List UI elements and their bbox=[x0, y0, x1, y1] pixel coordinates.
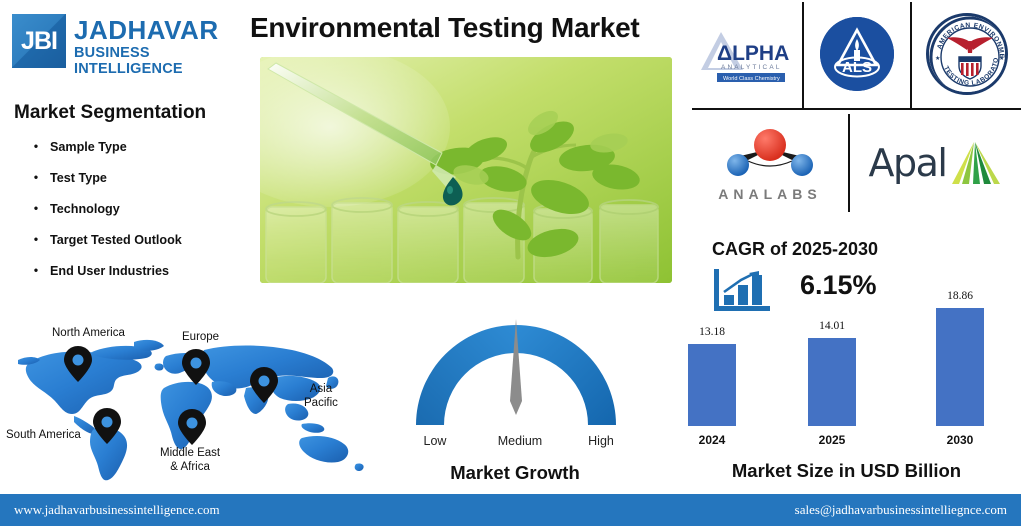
gauge-tick-labels: Low Medium High bbox=[395, 434, 635, 452]
bar-category-label: 2025 bbox=[819, 433, 846, 447]
bar-category-label: 2024 bbox=[699, 433, 726, 447]
map-label-south-america: South America bbox=[6, 428, 81, 442]
brand-subtitle: BUSINESS INTELLIGENCE bbox=[74, 45, 236, 77]
lab-plant-illustration bbox=[260, 57, 672, 283]
regional-world-map: North America Europe Asia Pacific South … bbox=[6, 330, 374, 486]
segmentation-list: • Sample Type • Test Type • Technology •… bbox=[22, 140, 252, 295]
list-item: • Test Type bbox=[22, 171, 252, 202]
market-growth-gauge bbox=[402, 305, 630, 430]
jbi-logo-mark: JBI bbox=[12, 14, 66, 68]
bar-rect bbox=[936, 308, 984, 426]
bar-value: 14.01 bbox=[819, 320, 845, 332]
svg-text:ALS: ALS bbox=[842, 59, 872, 76]
als-logo-icon: ALS bbox=[820, 17, 894, 91]
apal-logo: Apal bbox=[869, 140, 1003, 186]
footer-email-link[interactable]: sales@jadhavarbusinessintelliegnce.com bbox=[795, 502, 1007, 518]
bullet-icon: • bbox=[22, 233, 50, 246]
logo-american-environmental-testing-laboratory: AMERICAN ENVIRONMENTAL TESTING LABORATOR… bbox=[912, 0, 1021, 108]
map-label-asia-pacific: Asia Pacific bbox=[304, 382, 338, 411]
bullet-icon: • bbox=[22, 140, 50, 153]
svg-text:World Class Chemistry: World Class Chemistry bbox=[723, 76, 780, 82]
logo-analabs: ANALABS bbox=[692, 112, 848, 213]
list-item-label: Target Tested Outlook bbox=[50, 233, 252, 247]
bullet-icon: • bbox=[22, 202, 50, 215]
map-label-middle-east-africa: Middle East & Africa bbox=[160, 446, 220, 475]
footer-bar: www.jadhavarbusinessintelligence.com sal… bbox=[0, 494, 1021, 526]
bar-value: 13.18 bbox=[699, 326, 725, 338]
brand-name: JADHAVAR bbox=[74, 17, 236, 44]
hero-image bbox=[260, 57, 672, 283]
cagr-heading: CAGR of 2025-2030 bbox=[712, 239, 878, 260]
gauge-title: Market Growth bbox=[390, 462, 640, 484]
aetl-seal-icon: AMERICAN ENVIRONMENTAL TESTING LABORATOR… bbox=[926, 13, 1008, 95]
bar-rect bbox=[688, 344, 736, 426]
gauge-tick-low: Low bbox=[405, 434, 465, 448]
page-title: Environmental Testing Market bbox=[250, 12, 690, 44]
bar-category-label: 2030 bbox=[947, 433, 974, 447]
bar-chart-title: Market Size in USD Billion bbox=[672, 460, 1021, 482]
list-item: • End User Industries bbox=[22, 264, 252, 295]
gauge-tick-medium: Medium bbox=[485, 434, 555, 448]
list-item: • Technology bbox=[22, 202, 252, 233]
bullet-icon: • bbox=[22, 171, 50, 184]
gauge-svg bbox=[402, 305, 630, 430]
list-item-label: Technology bbox=[50, 202, 252, 216]
als-mark: ALS bbox=[820, 17, 894, 91]
apal-fan-icon bbox=[946, 140, 1002, 186]
apal-wordmark: Apal bbox=[869, 141, 947, 185]
divider bbox=[692, 108, 1021, 110]
aetl-mark: AMERICAN ENVIRONMENTAL TESTING LABORATOR… bbox=[929, 16, 1008, 95]
svg-text:ΔLPHA: ΔLPHA bbox=[717, 42, 789, 65]
partner-logo-grid: ΔLPHA ANALYTICAL World Class Chemistry A… bbox=[692, 0, 1021, 216]
logo-alpha-analytical: ΔLPHA ANALYTICAL World Class Chemistry bbox=[692, 0, 802, 108]
infographic-page: JBI JADHAVAR BUSINESS INTELLIGENCE Envir… bbox=[0, 0, 1021, 526]
bullet-icon: • bbox=[22, 264, 50, 277]
list-item: • Target Tested Outlook bbox=[22, 233, 252, 264]
company-logo: JBI JADHAVAR BUSINESS INTELLIGENCE bbox=[8, 10, 236, 72]
map-label-europe: Europe bbox=[182, 330, 219, 344]
brand-wordmark: JADHAVAR BUSINESS INTELLIGENCE bbox=[74, 17, 236, 77]
analabs-molecule-icon bbox=[716, 123, 824, 179]
footer-website-link[interactable]: www.jadhavarbusinessintelligence.com bbox=[14, 502, 220, 518]
segmentation-heading: Market Segmentation bbox=[14, 102, 206, 124]
svg-text:★: ★ bbox=[935, 55, 940, 62]
bar-rect bbox=[808, 338, 856, 426]
map-label-north-america: North America bbox=[52, 326, 125, 340]
analabs-wordmark: ANALABS bbox=[716, 186, 824, 202]
analabs-logo: ANALABS bbox=[716, 123, 824, 202]
list-item-label: Test Type bbox=[50, 171, 252, 185]
jbi-logo-text: JBI bbox=[21, 27, 57, 56]
gauge-tick-high: High bbox=[573, 434, 629, 448]
list-item-label: End User Industries bbox=[50, 264, 252, 278]
bar-value: 18.86 bbox=[947, 290, 973, 302]
svg-text:ANALYTICAL: ANALYTICAL bbox=[721, 64, 782, 71]
logo-apal: Apal bbox=[850, 112, 1021, 213]
alpha-analytical-logo-icon: ΔLPHA ANALYTICAL World Class Chemistry bbox=[699, 24, 795, 84]
market-size-bar-chart: 13.18 2024 14.01 2025 18.86 2030 bbox=[672, 272, 1021, 450]
list-item: • Sample Type bbox=[22, 140, 252, 171]
list-item-label: Sample Type bbox=[50, 140, 252, 154]
logo-als: ALS bbox=[804, 0, 910, 108]
svg-text:★: ★ bbox=[999, 55, 1004, 62]
map-pin-europe bbox=[182, 349, 210, 385]
